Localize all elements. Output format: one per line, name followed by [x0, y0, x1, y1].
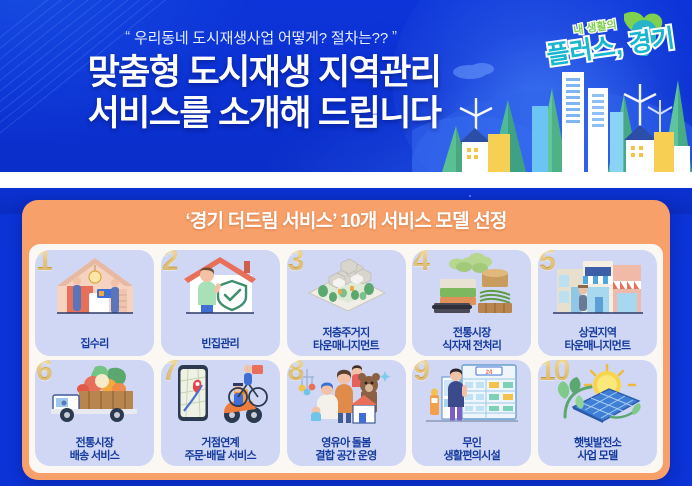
services-panel: ‘경기 더드림 서비스’ 10개 서비스 모델 선정 1: [22, 200, 670, 480]
card-caption-line-1: 무인: [462, 437, 481, 449]
card-number: 10: [538, 360, 572, 388]
service-card[interactable]: 6: [35, 360, 154, 466]
card-caption-line-1: 전통시장: [76, 437, 114, 449]
service-card[interactable]: 9 24: [412, 360, 531, 466]
hero-section: “우리동네 도시재생사업 어떻게? 절차는??” 맞춤형 도시재생 지역관리 서…: [0, 0, 692, 172]
headline-line-2: 서비스를 소개해 드립니다: [0, 93, 528, 134]
service-card[interactable]: 7: [161, 360, 280, 466]
card-caption-line-2: 배송 서비스: [70, 450, 119, 462]
service-card[interactable]: 5: [538, 250, 657, 356]
card-caption: 상권지역 타운매니지먼트: [538, 327, 657, 353]
card-caption: 저층주거지 타운매니지먼트: [287, 327, 406, 353]
card-number: 7: [161, 360, 181, 388]
logo-mark-icon: 내 생활의 플러스, 경기: [528, 8, 680, 80]
panel-body: 1: [29, 244, 663, 473]
card-caption: 무인 생활편의시설: [412, 437, 531, 463]
quote-open: “: [121, 28, 134, 45]
hero-subtitle: “우리동네 도시재생사업 어떻게? 절차는??”: [0, 27, 522, 48]
card-caption-line-2: 사업 모델: [577, 450, 617, 462]
service-card[interactable]: 1: [35, 250, 154, 356]
card-number: 9: [412, 360, 432, 388]
service-card[interactable]: 4: [412, 250, 531, 356]
service-card[interactable]: 3: [287, 250, 406, 356]
service-card[interactable]: 10: [538, 360, 657, 466]
card-caption: 거점연계 주문·배달 서비스: [161, 437, 280, 463]
white-divider-band: [0, 172, 692, 188]
card-caption-line-1: 빈집관리: [201, 338, 239, 350]
card-number: 3: [287, 250, 307, 278]
card-caption-line-2: 식자재 전처리: [442, 340, 501, 352]
card-caption: 영유아 돌봄 결합 공간 운영: [287, 437, 406, 463]
headline-line-1: 맞춤형 도시재생 지역관리: [88, 53, 441, 92]
card-caption: 빈집관리: [161, 338, 280, 351]
card-caption-line-2: 생활편의시설: [443, 450, 500, 462]
service-card-grid: 1: [35, 250, 657, 470]
card-caption-line-1: 저층주거지: [322, 327, 369, 339]
card-caption-line-1: 햇빛발전소: [574, 437, 621, 449]
service-card[interactable]: 2: [161, 250, 280, 356]
hero-subtitle-text: 우리동네 도시재생사업 어떻게? 절차는??: [134, 30, 388, 47]
card-caption: 집수리: [35, 338, 154, 351]
card-number: 1: [35, 250, 55, 278]
card-caption-line-1: 전통시장: [453, 327, 491, 339]
card-caption-line-1: 영유아 돌봄: [321, 437, 370, 449]
card-number: 2: [161, 250, 181, 278]
card-caption: 전통시장 식자재 전처리: [412, 327, 531, 353]
gyeonggi-plus-logo: 내 생활의 플러스, 경기: [528, 8, 680, 80]
card-number: 4: [412, 250, 432, 278]
poster-canvas: “우리동네 도시재생사업 어떻게? 절차는??” 맞춤형 도시재생 지역관리 서…: [0, 0, 692, 486]
svg-text:24: 24: [485, 370, 492, 376]
card-caption-line-2: 결합 공간 운영: [315, 450, 376, 462]
card-caption-line-2: 주문·배달 서비스: [185, 450, 256, 462]
card-caption: 햇빛발전소 사업 모델: [538, 437, 657, 463]
card-caption-line-2: 타운매니지먼트: [565, 340, 631, 352]
page-title: 맞춤형 도시재생 지역관리 서비스를 소개해 드립니다: [0, 52, 528, 134]
service-card[interactable]: 8: [287, 360, 406, 466]
card-caption-line-1: 집수리: [80, 338, 108, 350]
card-caption-line-2: 타운매니지먼트: [313, 340, 379, 352]
quote-close: ”: [388, 28, 401, 45]
card-caption-line-1: 거점연계: [201, 437, 239, 449]
card-caption-line-1: 상권지역: [579, 327, 617, 339]
card-number: 6: [35, 360, 55, 388]
card-number: 5: [538, 250, 558, 278]
panel-title: ‘경기 더드림 서비스’ 10개 서비스 모델 선정: [22, 200, 670, 244]
card-number: 8: [287, 360, 307, 388]
card-caption: 전통시장 배송 서비스: [35, 437, 154, 463]
